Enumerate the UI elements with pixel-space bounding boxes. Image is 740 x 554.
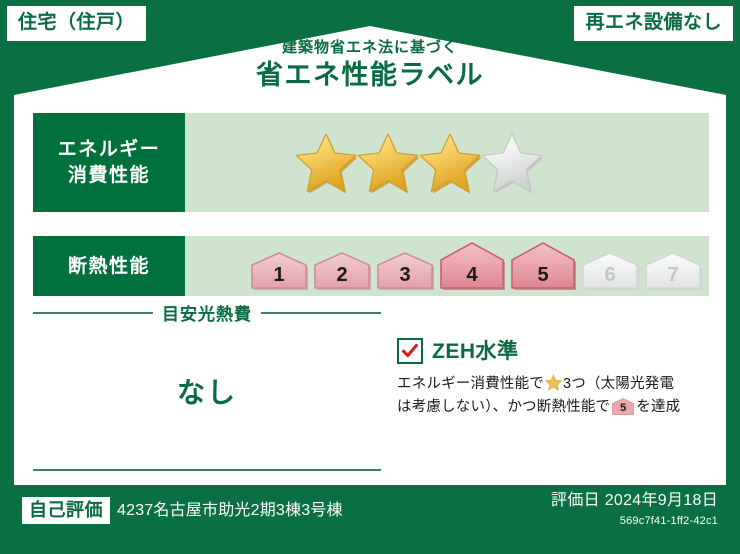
insulation-level-5: 5 — [510, 242, 576, 290]
insulation-level-2: 2 — [313, 252, 371, 290]
self-assessment-badge: 自己評価 — [22, 497, 110, 524]
insulation-level-number: 3 — [376, 265, 434, 285]
star-rating — [293, 131, 541, 195]
insulation-badge-number: 5 — [612, 403, 634, 414]
star-icon-empty — [479, 131, 545, 195]
utility-cost-value: なし — [33, 371, 381, 411]
zeh-desc-part1: エネルギー消費性能で — [397, 376, 544, 392]
insulation-level-number: 2 — [313, 265, 371, 285]
insulation-level-6: 6 — [581, 252, 639, 290]
rule-right — [261, 312, 381, 314]
insulation-level-number: 6 — [581, 265, 639, 285]
zeh-checkbox[interactable] — [397, 338, 423, 364]
insulation-level-1: 1 — [250, 252, 308, 290]
zeh-desc-part2: は考慮しない）、かつ断熱性能で — [397, 399, 610, 415]
housing-type-tag: 住宅（住戸） — [7, 6, 146, 41]
footer-bar: 自己評価 4237名古屋市助光2期3棟3号棟 評価日 2024年9月18日 56… — [0, 485, 740, 554]
energy-consumption-label-line1: エネルギー — [58, 137, 161, 163]
insulation-label: 断熱性能 — [33, 236, 185, 296]
insulation-scale: 1234567 — [250, 242, 707, 290]
insulation-level-number: 1 — [250, 265, 308, 285]
evaluation-date-label: 評価日 — [551, 492, 600, 509]
star-icon-filled — [355, 131, 421, 195]
insulation-row: 断熱性能 1234567 — [33, 236, 709, 296]
energy-performance-label: 住宅（住戸） 再エネ設備なし 建築物省エネ法に基づく 省エネ性能ラベル エネルギ… — [0, 0, 740, 554]
zeh-title: ZEH水準 — [432, 341, 519, 362]
star-icon-filled — [417, 131, 483, 195]
energy-consumption-body — [185, 113, 709, 212]
utility-cost-bottom-rule — [33, 469, 381, 471]
utility-cost-block: 目安光熱費 なし — [33, 300, 381, 471]
insulation-label-text: 断熱性能 — [68, 257, 150, 276]
energy-consumption-row: エネルギー 消費性能 — [33, 113, 709, 212]
property-address: 4237名古屋市助光2期3棟3号棟 — [117, 503, 343, 519]
evaluation-date: 評価日 2024年9月18日 — [551, 493, 718, 509]
document-id: 569c7f41-1ff2-42c1 — [551, 516, 718, 527]
zeh-desc-part3: を達成 — [636, 399, 680, 415]
insulation-level-7: 7 — [644, 252, 702, 290]
renewable-energy-tag: 再エネ設備なし — [574, 6, 733, 41]
zeh-header: ZEH水準 — [397, 338, 709, 364]
insulation-level-number: 5 — [510, 265, 576, 285]
zeh-block: ZEH水準 エネルギー消費性能で3つ（太陽光発電は考慮しない）、かつ断熱性能で5… — [397, 338, 709, 420]
star-icon-filled — [293, 131, 359, 195]
utility-cost-header: 目安光熱費 — [33, 300, 381, 325]
zeh-desc-stars: 3つ（太陽光発電 — [563, 376, 674, 392]
check-icon — [401, 342, 419, 360]
utility-cost-title: 目安光熱費 — [162, 300, 252, 325]
footer-left: 自己評価 4237名古屋市助光2期3棟3号棟 — [22, 497, 343, 524]
insulation-level-3: 3 — [376, 252, 434, 290]
rule-left — [33, 312, 153, 314]
insulation-body: 1234567 — [185, 236, 709, 296]
energy-consumption-label: エネルギー 消費性能 — [33, 113, 185, 212]
energy-consumption-label-line2: 消費性能 — [68, 163, 150, 189]
zeh-description: エネルギー消費性能で3つ（太陽光発電は考慮しない）、かつ断熱性能で5を達成 — [397, 373, 709, 420]
footer-right: 評価日 2024年9月18日 569c7f41-1ff2-42c1 — [551, 493, 718, 527]
insulation-level-number: 4 — [439, 265, 505, 285]
insulation-badge-icon: 5 — [612, 398, 634, 415]
star-icon — [545, 374, 562, 391]
evaluation-date-value: 2024年9月18日 — [605, 492, 718, 509]
insulation-level-4: 4 — [439, 242, 505, 290]
insulation-level-number: 7 — [644, 265, 702, 285]
